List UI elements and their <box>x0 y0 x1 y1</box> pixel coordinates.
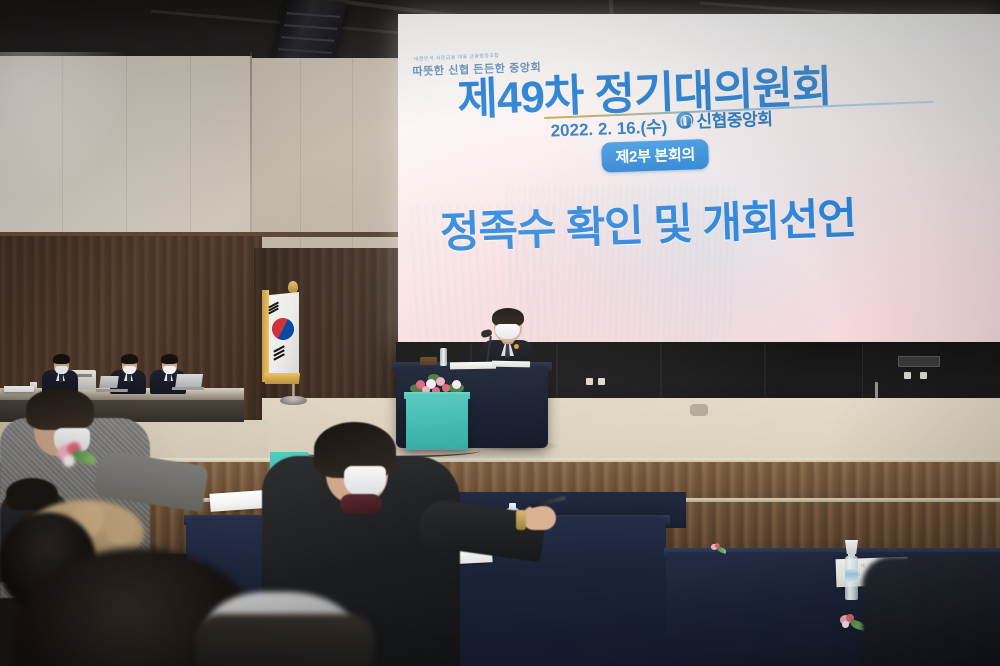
projection-screen: 대한민국 서민금융 대표 금융협동조합 따뜻한 신협 든든한 중앙회 제49차 … <box>398 14 1000 344</box>
slide-subject: 정족수 확인 및 개회선언 <box>439 184 857 260</box>
laptop-icon <box>99 376 119 388</box>
corsage-flower <box>711 543 727 554</box>
lapel-pin-icon <box>514 344 519 349</box>
laptop-icon <box>175 374 203 389</box>
paper-cup-icon <box>845 540 858 554</box>
delegate-hand <box>522 506 556 530</box>
face-mask-icon <box>495 324 520 339</box>
session-badge: 제2부 본회의 <box>601 139 709 173</box>
door-handle-icon[interactable] <box>875 382 878 398</box>
conference-photo-scene: 대한민국 서민금융 대표 금융협동조합 따뜻한 신협 든든한 중앙회 제49차 … <box>0 0 1000 666</box>
podium-papers <box>450 362 496 370</box>
chair-back <box>196 614 374 666</box>
delegate-papers <box>209 490 264 512</box>
wall-control-panel[interactable] <box>898 356 940 367</box>
shinhyup-emblem-icon <box>676 111 694 129</box>
water-bottle-icon <box>440 348 447 366</box>
flag-fringe <box>264 373 300 384</box>
gavel-block-icon <box>420 357 437 365</box>
organization-logo: 신협중앙회 <box>676 105 773 133</box>
bottle-label <box>845 569 858 582</box>
wall-light-glow <box>0 52 130 202</box>
face-mask-icon <box>344 466 386 496</box>
wall-panel-seam <box>352 58 353 248</box>
corsage-flower <box>56 439 98 470</box>
flag-finial-icon <box>288 281 298 293</box>
wristwatch-icon <box>516 510 526 530</box>
skirted-table <box>406 396 468 450</box>
flag-stand-base <box>280 396 307 405</box>
wall-outlet-icon <box>586 378 593 385</box>
podium-papers <box>492 361 530 368</box>
delegate-foreground-right <box>862 556 1000 666</box>
wall-switch-icon[interactable] <box>920 372 927 379</box>
water-bottle-icon <box>845 556 858 600</box>
wall-panel-seam <box>300 58 301 248</box>
staff-papers <box>4 386 34 392</box>
flag-fringe <box>262 290 269 382</box>
slide-content: 대한민국 서민금융 대표 금융협동조합 따뜻한 신협 든든한 중앙회 제49차 … <box>398 14 1000 344</box>
organization-name: 신협중앙회 <box>696 105 773 133</box>
wall-outlet-icon <box>598 378 605 385</box>
slide-date: 2022. 2. 16.(수) <box>550 112 668 141</box>
stage-small-object <box>690 404 708 416</box>
wall-switch-icon[interactable] <box>904 372 911 379</box>
scarf <box>340 494 382 514</box>
